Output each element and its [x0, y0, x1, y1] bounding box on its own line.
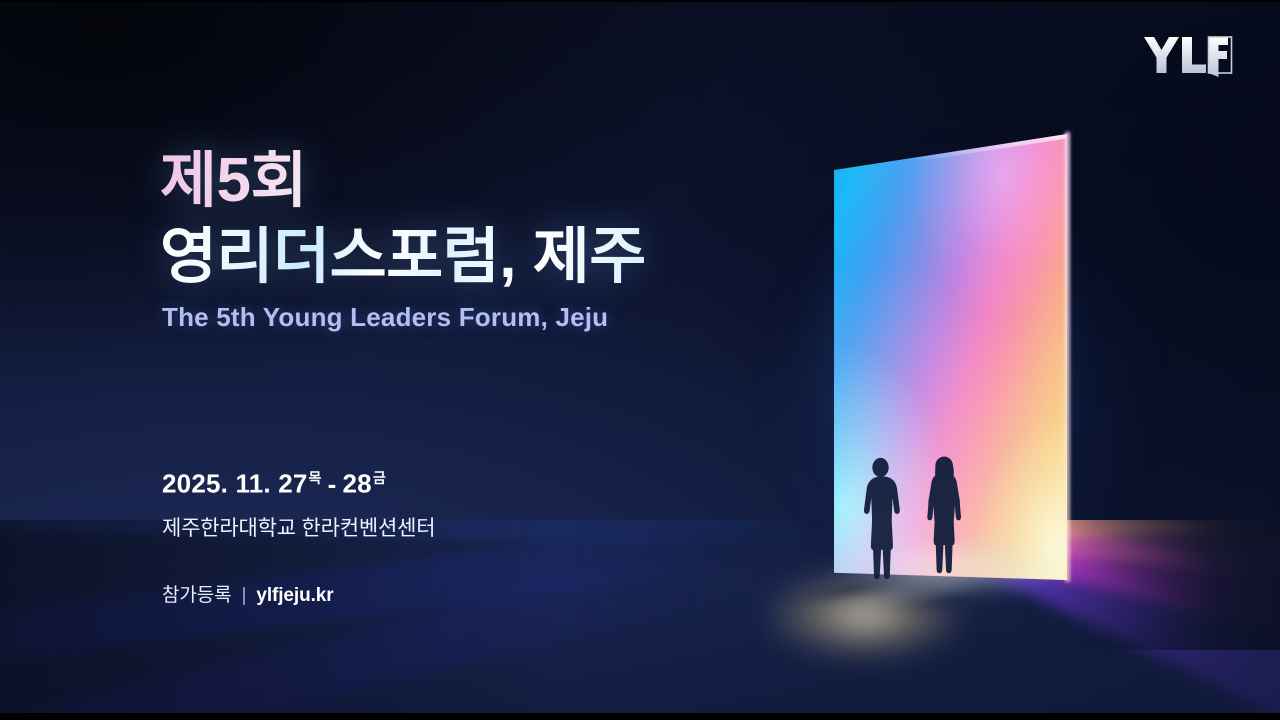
- event-details-block: 2025. 11. 27목-28금 제주한라대학교 한라컨벤션센터 참가등록|y…: [162, 468, 435, 607]
- event-venue: 제주한라대학교 한라컨벤션센터: [162, 512, 435, 542]
- ylf-logo: [1142, 32, 1234, 78]
- registration-label: 참가등록: [162, 585, 232, 606]
- registration-separator: |: [242, 585, 247, 606]
- male-silhouette: [864, 458, 900, 579]
- event-date-dash: -: [328, 469, 337, 499]
- letterbox-bottom: [0, 713, 1280, 720]
- female-silhouette: [927, 457, 961, 574]
- page-title-line2: 영리더스포럼, 제주: [160, 226, 646, 288]
- event-date-end: 28: [343, 469, 372, 499]
- event-date: 2025. 11. 27목-28금: [162, 468, 435, 500]
- page-title-line1: 제5회: [160, 150, 646, 212]
- registration-line: 참가등록|ylfjeju.kr: [162, 580, 435, 607]
- event-poster: 제5회 영리더스포럼, 제주 The 5th Young Leaders For…: [0, 0, 1280, 720]
- page-subtitle: The 5th Young Leaders Forum, Jeju: [162, 302, 646, 333]
- letterbox-top: [0, 0, 1280, 2]
- event-date-end-weekday: 금: [373, 470, 386, 486]
- gateway-right-edge: [1065, 132, 1070, 582]
- event-date-start: 2025. 11. 27: [162, 469, 308, 499]
- silhouette-group: [840, 440, 1020, 620]
- event-date-start-weekday: 목: [309, 470, 322, 486]
- ylf-logo-mark: [1142, 32, 1234, 78]
- registration-url[interactable]: ylfjeju.kr: [256, 585, 333, 606]
- ylf-letters: [1144, 37, 1228, 77]
- headline-block: 제5회 영리더스포럼, 제주 The 5th Young Leaders For…: [160, 150, 646, 333]
